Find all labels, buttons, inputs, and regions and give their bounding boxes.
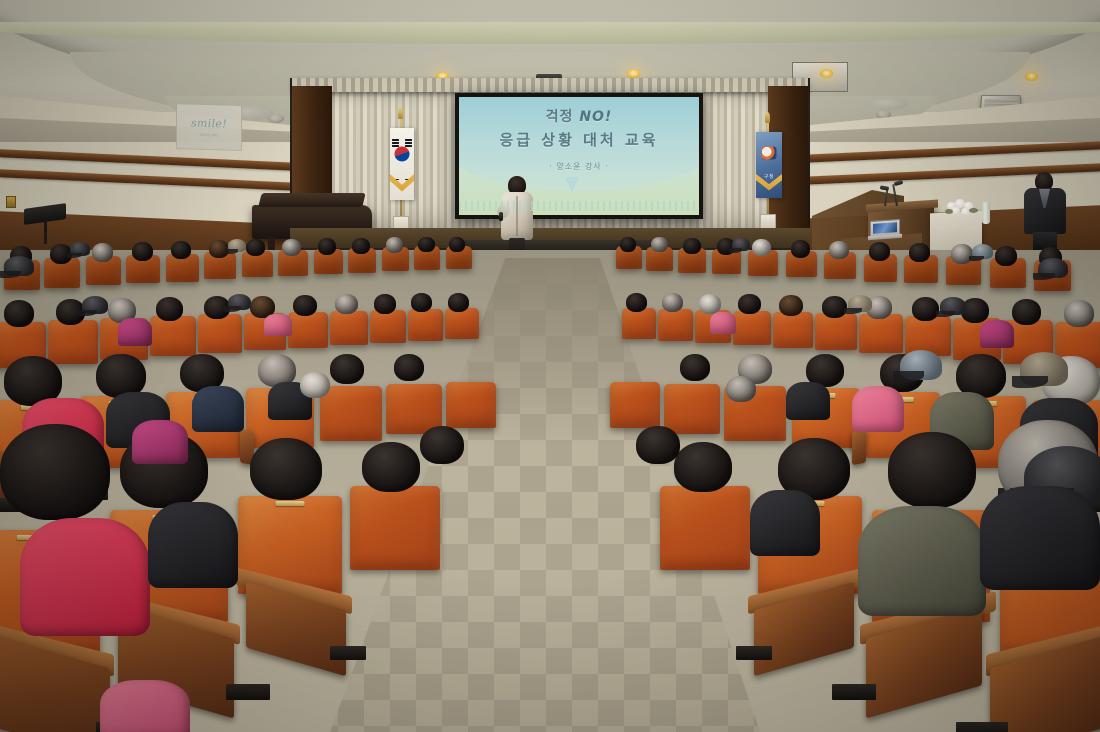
audience-body — [858, 506, 986, 616]
slide-fringe-decor — [459, 201, 699, 211]
audience-head — [92, 243, 113, 262]
auditorium-seat[interactable] — [610, 382, 660, 428]
slide-line-1: 걱정 NO! — [459, 106, 699, 126]
audience-cap-icon — [228, 239, 246, 252]
audience-cap-icon — [1020, 352, 1068, 386]
audience-head — [293, 295, 317, 316]
audience-head — [132, 242, 153, 261]
audience-body — [786, 382, 830, 420]
audience-cap-icon — [1038, 258, 1068, 278]
audience-head — [362, 442, 420, 492]
seat-leg-block — [736, 646, 772, 660]
seat-number-plate — [275, 501, 304, 506]
audience-head — [626, 293, 647, 312]
poster-text: smile! — [191, 116, 227, 130]
audience-body — [192, 386, 244, 432]
audience-head — [418, 237, 435, 252]
curtain-pelmet — [292, 78, 808, 92]
flag-gold-chevron — [390, 174, 414, 200]
audience-head — [683, 238, 701, 254]
audience-cap-icon — [82, 296, 108, 314]
audience-head — [699, 294, 721, 314]
ceiling-downlight — [820, 69, 833, 78]
wall-outlet-icon — [6, 196, 16, 208]
audience-body — [980, 486, 1100, 590]
audience-cap-icon — [732, 238, 750, 251]
auditorium-seat[interactable] — [408, 309, 443, 341]
audience-body — [100, 680, 190, 732]
audience-body — [20, 518, 150, 636]
flag-finial-icon — [765, 112, 770, 123]
audience-head — [171, 241, 191, 259]
audience-cap-icon — [900, 350, 942, 380]
seat-leg-block — [226, 684, 270, 700]
audience-head — [791, 240, 810, 258]
audience-cap-icon — [848, 295, 872, 312]
audience-head — [752, 239, 771, 256]
audience-head — [374, 294, 396, 314]
slide-bubble-tail — [565, 177, 579, 193]
audience-body — [852, 386, 904, 432]
audience-body — [148, 502, 238, 588]
seat-row-front-left — [0, 430, 520, 732]
auditorium-seat[interactable] — [370, 310, 406, 343]
audience-head — [1064, 300, 1094, 327]
audience-head — [726, 376, 756, 402]
auditorium-photo: smile! happy day 걱정 NO! 응급 상황 대처 교육 · 양소… — [0, 0, 1100, 732]
handheld-microphone-icon — [499, 212, 503, 221]
audience-head — [318, 238, 336, 255]
audience-body — [750, 490, 820, 556]
auditorium-seat[interactable] — [445, 308, 479, 339]
seat-row-front-right — [600, 430, 1100, 732]
audience-head — [420, 426, 464, 464]
audience-cap-icon — [972, 244, 993, 259]
auditorium-seat[interactable] — [658, 309, 693, 341]
audience-head — [300, 372, 330, 398]
taeguk-circle-icon — [395, 146, 410, 161]
seating-area — [0, 230, 1100, 732]
ceiling-downlight — [1025, 72, 1038, 81]
auditorium-seat[interactable] — [446, 382, 496, 428]
audience-head — [335, 294, 358, 314]
projection-screen: 걱정 NO! 응급 상황 대처 교육 · 양소윤 강사 · — [459, 97, 699, 215]
flower-arrangement — [945, 198, 979, 216]
seat-leg-block — [832, 684, 876, 700]
audience-head — [394, 354, 424, 381]
audience-cap-icon — [940, 297, 966, 315]
district-emblem-icon — [762, 147, 777, 160]
audience-head — [912, 297, 939, 321]
audience-head — [0, 424, 110, 520]
auditorium-seat[interactable] — [622, 308, 656, 339]
slide-line-2: 응급 상황 대처 교육 — [459, 129, 699, 150]
slide-line-3: · 양소윤 강사 · — [459, 161, 699, 172]
water-bottle — [982, 202, 990, 224]
flag-finial-icon — [398, 108, 403, 119]
audience-head — [448, 293, 469, 312]
poster-subtext: happy day — [200, 132, 218, 138]
audience-head — [636, 426, 680, 464]
audience-head — [779, 295, 803, 316]
auditorium-seat[interactable] — [664, 384, 720, 434]
ceiling-downlight — [627, 69, 640, 78]
audience-body — [264, 314, 292, 336]
audience-head — [352, 238, 370, 254]
seat-leg-block — [330, 646, 366, 660]
audience-head — [330, 354, 364, 384]
audience-head — [250, 438, 322, 500]
audience-head — [1012, 299, 1041, 325]
audience-head — [156, 297, 183, 321]
audience-head — [995, 246, 1017, 266]
auditorium-seat[interactable] — [660, 486, 750, 570]
audience-head — [620, 237, 636, 252]
audience-cap-icon — [228, 294, 251, 310]
ceiling-duct-icon — [868, 98, 908, 110]
audience-head — [282, 239, 301, 256]
audience-head — [651, 237, 668, 252]
audience-head — [680, 354, 710, 381]
audience-body — [132, 420, 188, 464]
audience-head — [386, 237, 403, 253]
audience-head — [449, 237, 465, 252]
audience-head — [662, 293, 683, 312]
audience-head — [674, 442, 732, 492]
smile-poster: smile! happy day — [176, 103, 242, 151]
audience-head — [738, 294, 761, 314]
audience-head — [869, 242, 890, 261]
district-flag-cloth: 구청 — [756, 132, 782, 198]
projection-screen-frame: 걱정 NO! 응급 상황 대처 교육 · 양소윤 강사 · — [455, 93, 703, 219]
korean-national-flag — [382, 108, 422, 240]
taegukgi — [390, 128, 414, 200]
audience-head — [4, 300, 34, 327]
auditorium-seat[interactable] — [350, 486, 440, 570]
audience-head — [888, 432, 976, 508]
audience-head — [829, 241, 849, 259]
audience-head — [951, 244, 973, 264]
district-office-flag: 구청 — [748, 112, 790, 238]
audience-cap-icon — [70, 242, 90, 256]
district-flag-text: 구청 — [764, 173, 774, 180]
audience-head — [246, 239, 265, 256]
audience-cap-icon — [4, 256, 34, 276]
seat-leg-block — [956, 722, 1008, 732]
audience-head — [411, 293, 432, 312]
audience-head — [909, 243, 930, 262]
audience-body — [710, 312, 736, 334]
